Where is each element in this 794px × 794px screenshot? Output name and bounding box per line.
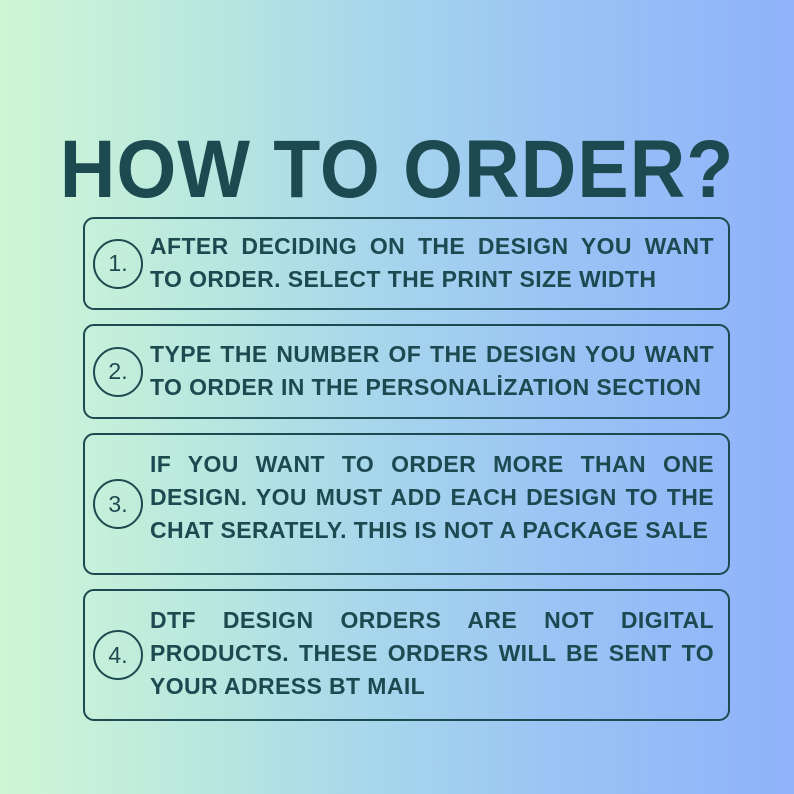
step-item-3: 3. IF YOU WANT TO ORDER MORE THAN ONE DE…: [83, 433, 730, 575]
steps-list: 1. AFTER DECIDING ON THE DESIGN YOU WANT…: [83, 217, 730, 721]
step-text-4: DTF DESIGN ORDERS ARE NOT DIGITAL PRODUC…: [85, 591, 728, 719]
step-number-badge-1: 1.: [93, 239, 143, 289]
step-number-badge-4: 4.: [93, 630, 143, 680]
step-item-1: 1. AFTER DECIDING ON THE DESIGN YOU WANT…: [83, 217, 730, 310]
step-text-3: IF YOU WANT TO ORDER MORE THAN ONE DESIG…: [85, 435, 728, 573]
step-text-1: AFTER DECIDING ON THE DESIGN YOU WANT TO…: [85, 219, 728, 308]
step-number-badge-2: 2.: [93, 347, 143, 397]
step-item-2: 2. TYPE THE NUMBER OF THE DESIGN YOU WAN…: [83, 324, 730, 419]
step-text-2: TYPE THE NUMBER OF THE DESIGN YOU WANT T…: [85, 326, 728, 417]
page-title: HOW TO ORDER?: [24, 127, 770, 213]
how-to-order-poster: HOW TO ORDER? 1. AFTER DECIDING ON THE D…: [0, 0, 794, 794]
step-number-badge-3: 3.: [93, 479, 143, 529]
step-item-4: 4. DTF DESIGN ORDERS ARE NOT DIGITAL PRO…: [83, 589, 730, 721]
